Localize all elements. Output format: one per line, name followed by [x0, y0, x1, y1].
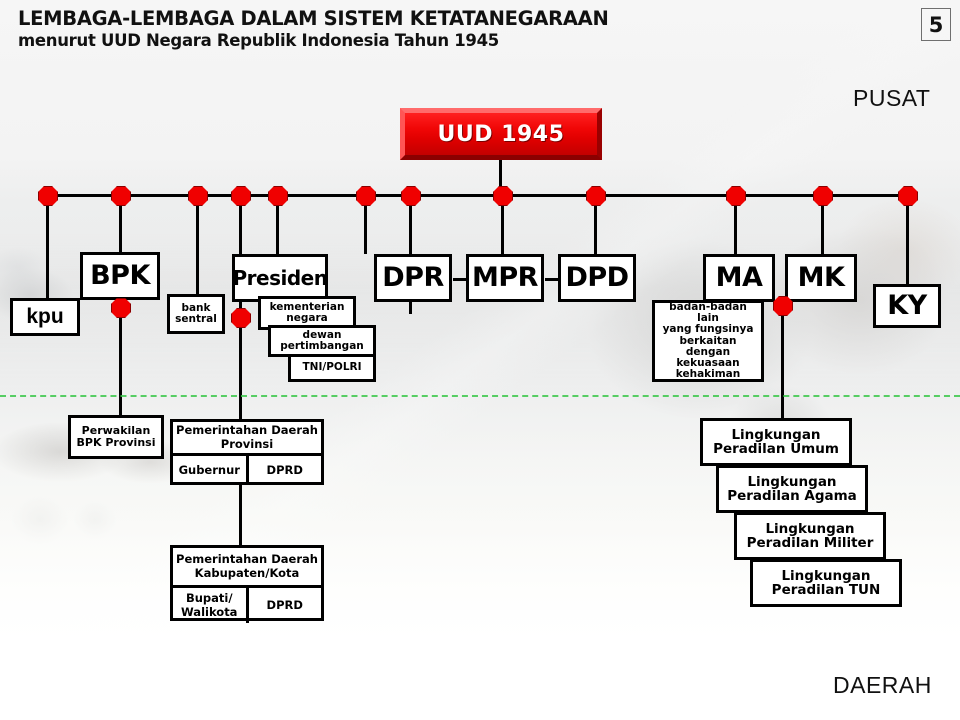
institution-label-bpk: BPK [88, 262, 152, 290]
regional-header-kabupaten-kota-text: Pemerintahan DaerahKabupaten/Kota [176, 553, 318, 581]
regional-table-provinsi[interactable]: Pemerintahan DaerahProvinsi Gubernur DPR… [170, 419, 324, 485]
uud-1945-label: UUD 1945 [438, 122, 565, 147]
institution-box-mk[interactable]: MK [785, 254, 857, 302]
institution-label-ma: MA [714, 264, 765, 292]
drop-line-ky [906, 194, 909, 284]
regional-cell-bupati-walikota[interactable]: Bupati/Walikota [173, 588, 249, 623]
slide-canvas: LEMBAGA-LEMBAGA DALAM SISTEM KETATANEGAR… [0, 0, 960, 720]
pusat-daerah-divider [0, 395, 960, 397]
court-label-peradilan-tun: LingkunganPeradilan TUN [770, 569, 883, 597]
drop-line-bank-sentral [196, 194, 199, 299]
bus-node-dpd [586, 186, 606, 206]
court-label-peradilan-agama: LingkunganPeradilan Agama [725, 475, 859, 503]
node-bpk-descent [111, 298, 131, 318]
institution-label-mpr: MPR [470, 264, 540, 292]
node-ma-descent [773, 296, 793, 316]
institution-box-kpu[interactable]: kpu [10, 298, 80, 336]
support-label-dewan-pertimbangan: dewanpertimbangan [278, 330, 366, 352]
court-box-peradilan-agama[interactable]: LingkunganPeradilan Agama [716, 465, 868, 513]
support-box-dewan-pertimbangan[interactable]: dewanpertimbangan [268, 325, 376, 357]
support-label-kementerian-negara: kementeriannegara [268, 302, 347, 324]
institution-label-dpr: DPR [380, 264, 446, 292]
institution-box-mpr[interactable]: MPR [466, 254, 544, 302]
regional-table-kabupaten-kota[interactable]: Pemerintahan DaerahKabupaten/Kota Bupati… [170, 545, 324, 621]
label-daerah: DAERAH [833, 672, 932, 699]
regional-cell-dprd-kabupaten[interactable]: DPRD [249, 588, 322, 623]
bus-node-ma [726, 186, 746, 206]
institution-label-mk: MK [796, 264, 847, 292]
support-label-tni-polri: TNI/POLRI [301, 362, 364, 373]
institution-label-dpd: DPD [563, 264, 630, 292]
institution-label-bank-sentral: banksentral [173, 303, 219, 325]
regional-header-provinsi-text: Pemerintahan DaerahProvinsi [176, 424, 318, 452]
uud-1945-banner: UUD 1945 [400, 108, 602, 160]
court-box-peradilan-tun[interactable]: LingkunganPeradilan TUN [750, 559, 902, 607]
regional-cell-dprd-kabupaten-text: DPRD [267, 599, 303, 612]
regional-cell-dprd-provinsi[interactable]: DPRD [249, 456, 322, 485]
regional-label-perwakilan-bpk: PerwakilanBPK Provinsi [75, 425, 158, 448]
institution-box-dpr[interactable]: DPR [374, 254, 452, 302]
institution-label-kpu: kpu [24, 306, 65, 328]
regional-cell-gubernur[interactable]: Gubernur [173, 456, 249, 485]
page-title-line2: menurut UUD Negara Republik Indonesia Ta… [18, 31, 499, 50]
table-row: Bupati/Walikota DPRD [173, 588, 321, 623]
label-pusat: PUSAT [853, 85, 930, 112]
bus-node-presiden-support [268, 186, 288, 206]
institution-box-bpk[interactable]: BPK [80, 252, 160, 300]
bus-node-kementerian [401, 186, 421, 206]
bus-node-mpr [493, 186, 513, 206]
institution-box-bank-sentral[interactable]: banksentral [167, 294, 225, 334]
table-row: Gubernur DPRD [173, 456, 321, 485]
bus-node-ky [898, 186, 918, 206]
bus-node-bpk [111, 186, 131, 206]
regional-header-kabupaten-kota: Pemerintahan DaerahKabupaten/Kota [173, 548, 321, 588]
bus-node-mk [813, 186, 833, 206]
institution-label-presiden: Presiden [231, 268, 330, 289]
support-box-tni-polri[interactable]: TNI/POLRI [288, 354, 376, 382]
bus-node-presiden [231, 186, 251, 206]
court-box-peradilan-militer[interactable]: LingkunganPeradilan Militer [734, 512, 886, 560]
regional-cell-dprd-provinsi-text: DPRD [267, 464, 303, 477]
institution-box-ky[interactable]: KY [873, 284, 941, 328]
constitution-bus-line [47, 194, 909, 197]
regional-header-provinsi: Pemerintahan DaerahProvinsi [173, 422, 321, 456]
note-label-badan-badan-lain: badan-badan lainyang fungsinyaberkaitan … [655, 302, 761, 379]
bus-node-kpu [38, 186, 58, 206]
regional-box-perwakilan-bpk[interactable]: PerwakilanBPK Provinsi [68, 415, 164, 459]
institution-box-dpd[interactable]: DPD [558, 254, 636, 302]
court-label-peradilan-umum: LingkunganPeradilan Umum [711, 428, 841, 456]
note-box-badan-badan-lain[interactable]: badan-badan lainyang fungsinyaberkaitan … [652, 300, 764, 382]
institution-box-presiden[interactable]: Presiden [232, 254, 328, 302]
node-presiden-descent [231, 308, 251, 328]
court-box-peradilan-umum[interactable]: LingkunganPeradilan Umum [700, 418, 852, 466]
institution-label-ky: KY [885, 292, 928, 320]
page-number-badge: 5 [921, 8, 951, 41]
regional-cell-bupati-walikota-text: Bupati/Walikota [181, 592, 237, 618]
drop-line-kpu [46, 194, 49, 299]
court-label-peradilan-militer: LingkunganPeradilan Militer [745, 522, 876, 550]
bus-node-bank-sentral [188, 186, 208, 206]
page-title-line1: LEMBAGA-LEMBAGA DALAM SISTEM KETATANEGAR… [18, 7, 608, 30]
institution-box-ma[interactable]: MA [703, 254, 775, 302]
regional-cell-gubernur-text: Gubernur [179, 464, 240, 477]
descent-line-presiden-to-province [239, 318, 242, 423]
descent-line-ma-to-courts [781, 300, 784, 418]
bus-node-dpr [356, 186, 376, 206]
descent-line-province-to-regency [239, 483, 242, 547]
